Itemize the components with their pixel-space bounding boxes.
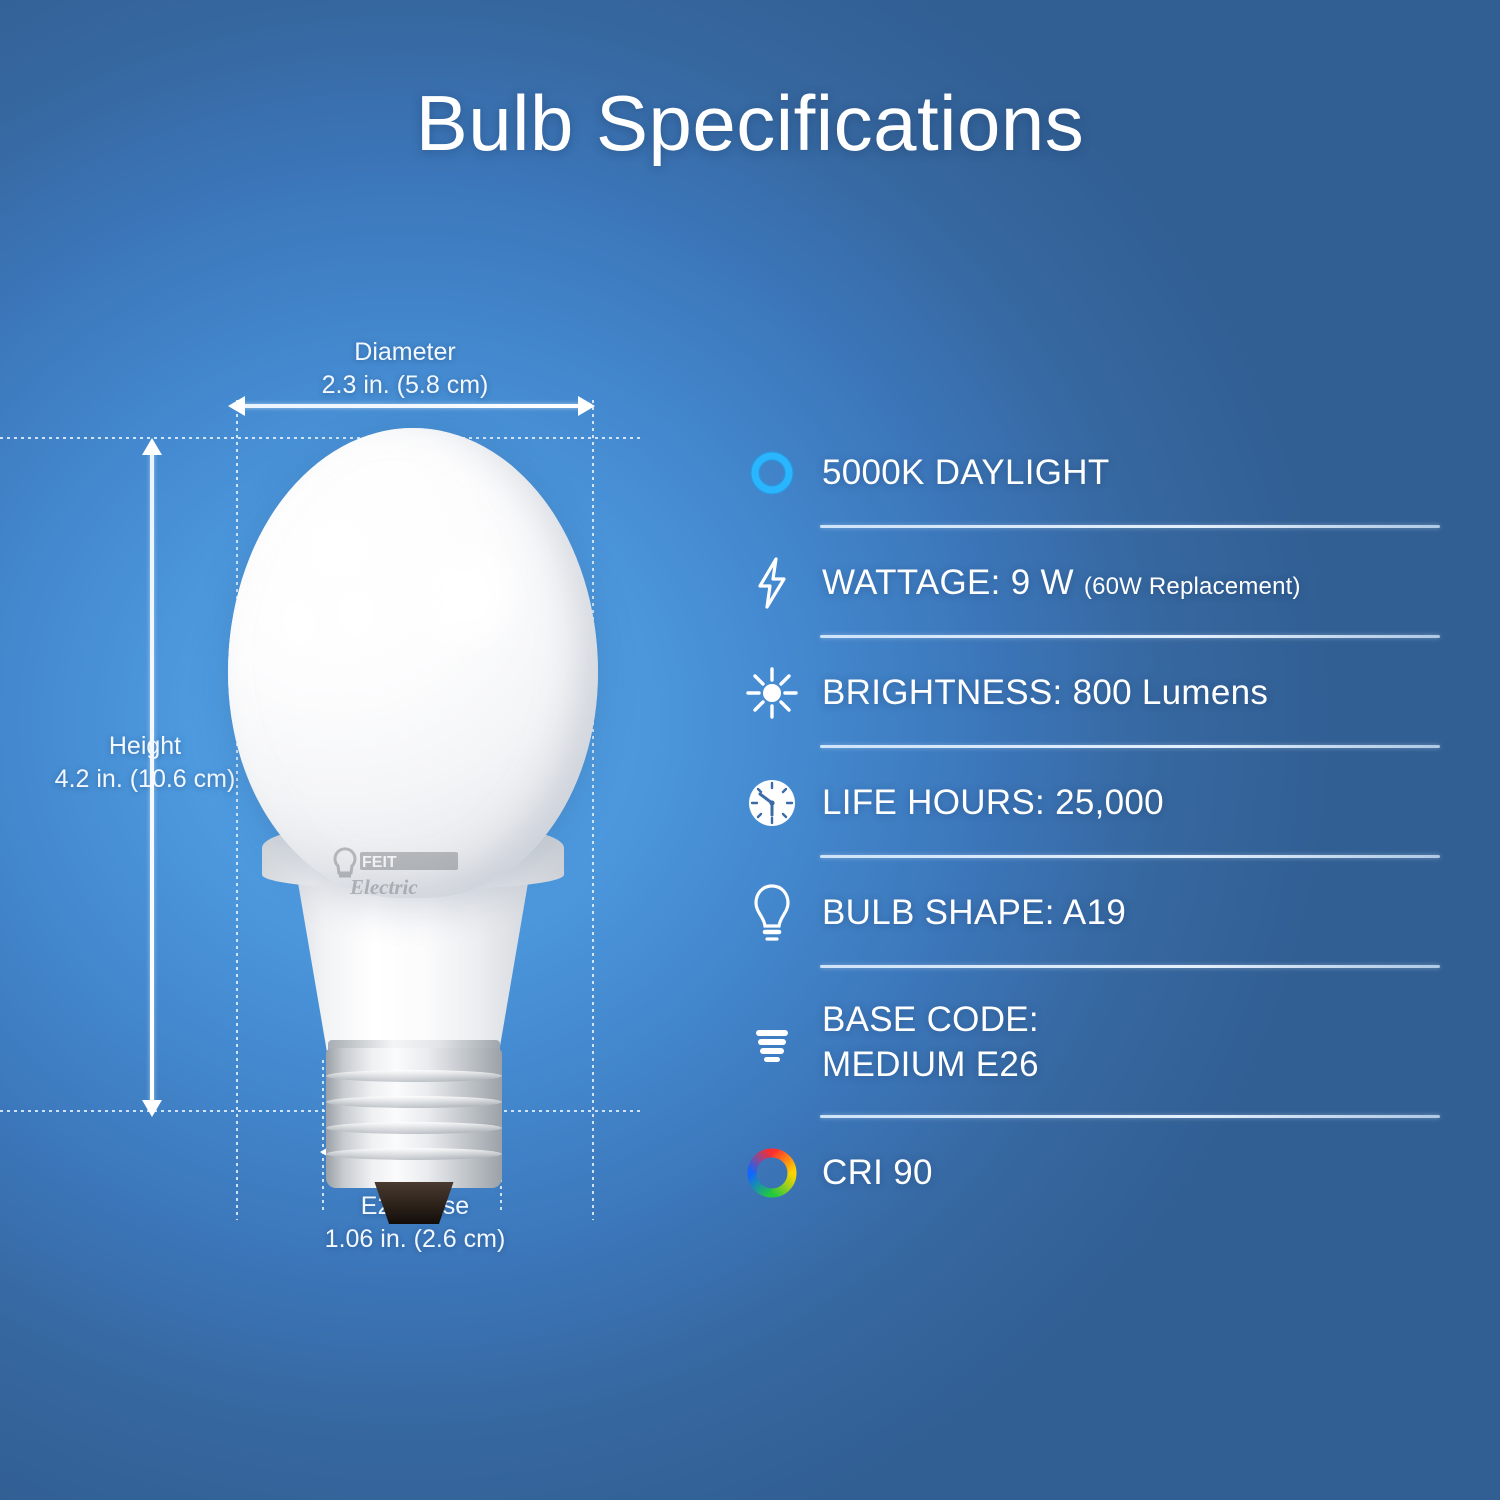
spec-row-wattage: WATTAGE: 9 W (60W Replacement) [722, 528, 1422, 638]
spec-label-color-temperature: 5000K DAYLIGHT [822, 451, 1110, 496]
screw-base-icon [722, 1018, 822, 1068]
spec-row-brightness: BRIGHTNESS: 800 Lumens [722, 638, 1422, 748]
diameter-label: Diameter 2.3 in. (5.8 cm) [205, 336, 605, 402]
spec-label-life-hours: LIFE HOURS: 25,000 [822, 781, 1164, 826]
spec-row-bulb-shape: BULB SHAPE: A19 [722, 858, 1422, 968]
color-wheel-icon [722, 1146, 822, 1200]
wattage-sub: (60W Replacement) [1084, 573, 1301, 600]
bulb-diagram: Diameter 2.3 in. (5.8 cm) Height 4.2 in.… [0, 300, 700, 1280]
base-thread [326, 1148, 502, 1160]
lightning-bolt-icon [722, 555, 822, 611]
spec-label-wattage: WATTAGE: 9 W (60W Replacement) [822, 561, 1301, 606]
bulb-screw-base [326, 1048, 502, 1188]
light-bulb-image: FEIT Electric [228, 428, 598, 1248]
logo-text-feit: FEIT [362, 854, 397, 871]
spec-row-life-hours: LIFE HOURS: 25,000 [722, 748, 1422, 858]
wattage-main: WATTAGE: 9 W [822, 563, 1074, 602]
height-dimension-line [150, 450, 154, 1110]
base-thread [326, 1096, 502, 1108]
bulb-globe [228, 428, 598, 898]
bulb-highlight [418, 548, 514, 644]
height-arrow-up-icon [142, 438, 162, 455]
logo-text-electric: Electric [349, 875, 418, 899]
color-temperature-ring-icon [722, 447, 822, 499]
spec-row-cri: CRI 90 [722, 1118, 1422, 1228]
spec-label-base-code: BASE CODE: MEDIUM E26 [822, 998, 1039, 1088]
page-title: Bulb Specifications [0, 78, 1500, 169]
height-arrow-down-icon [142, 1100, 162, 1117]
spec-label-cri: CRI 90 [822, 1151, 933, 1196]
diameter-arrow-right-icon [578, 396, 595, 416]
clock-icon [722, 777, 822, 829]
spec-label-brightness: BRIGHTNESS: 800 Lumens [822, 671, 1268, 716]
diameter-arrow-left-icon [228, 396, 245, 416]
bulb-outline-icon [722, 882, 822, 944]
sun-icon [722, 666, 822, 720]
spec-row-color-temperature: 5000K DAYLIGHT [722, 418, 1422, 528]
spec-row-base-code: BASE CODE: MEDIUM E26 [722, 968, 1422, 1118]
bulb-highlight [282, 596, 316, 654]
feit-electric-logo: FEIT Electric [324, 840, 476, 904]
base-thread [326, 1122, 502, 1134]
bulb-specifications-infographic: Bulb Specifications Diameter 2.3 in. (5.… [0, 0, 1500, 1500]
diameter-dimension-line [240, 404, 590, 408]
spec-label-bulb-shape: BULB SHAPE: A19 [822, 891, 1126, 936]
bulb-base-tip [362, 1182, 466, 1224]
base-thread [326, 1070, 502, 1082]
specification-list: 5000K DAYLIGHT WATTAGE: 9 W (60W Replace… [722, 418, 1422, 1228]
bulb-highlight [336, 588, 376, 640]
